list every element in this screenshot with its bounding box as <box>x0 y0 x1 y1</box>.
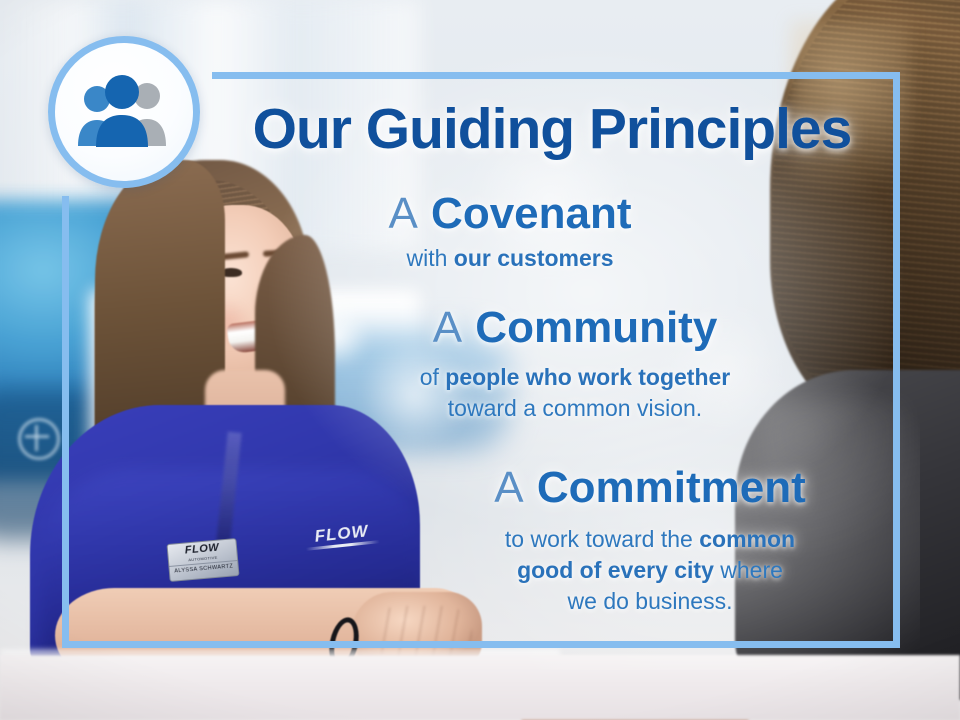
sub-text-plain: to work toward the <box>505 526 699 552</box>
sub-text-bold: common <box>699 526 795 552</box>
sub-text-bold: our customers <box>454 245 614 271</box>
sub-text-plain: with <box>406 245 453 271</box>
table-surface <box>0 655 960 720</box>
people-group-badge <box>48 36 200 188</box>
principle-keyword: Community <box>475 303 717 352</box>
people-group-icon <box>70 74 178 150</box>
sub-line-2: good of every city where <box>420 555 880 586</box>
principle-article: A <box>433 303 463 352</box>
sub-text-bold: people who work together <box>445 364 730 390</box>
principle-headline-commitment: A Commitment <box>420 462 880 514</box>
vehicle-emblem-icon <box>18 418 60 460</box>
sub-line-1: to work toward the common <box>420 524 880 555</box>
sub-text-bold: good of every city <box>517 557 714 583</box>
page-title: Our Guiding Principles <box>222 96 882 162</box>
sub-text-plain: of <box>420 364 446 390</box>
sub-line-1: of people who work together <box>340 362 810 393</box>
principle-keyword: Commitment <box>537 463 806 512</box>
banner-graphic: FLOW FLOW AUTOMOTIVE ALYSSA SCHWARTZ <box>0 0 960 720</box>
principle-article: A <box>388 189 418 238</box>
principle-sub-commitment: to work toward the common good of every … <box>420 524 880 617</box>
principle-block-community: A Community of people who work together … <box>340 302 810 424</box>
sub-line-3: we do business. <box>420 586 880 617</box>
employee-name-badge: FLOW AUTOMOTIVE ALYSSA SCHWARTZ <box>166 538 239 582</box>
principle-headline-covenant: A Covenant <box>300 188 720 240</box>
principle-article: A <box>494 463 524 512</box>
principle-block-covenant: A Covenant with our customers <box>300 188 720 274</box>
sub-line-2: toward a common vision. <box>340 393 810 424</box>
principle-sub-community: of people who work together toward a com… <box>340 362 810 424</box>
sub-text-plain: where <box>714 557 783 583</box>
principle-keyword: Covenant <box>431 189 631 238</box>
principle-headline-community: A Community <box>340 302 810 354</box>
principle-sub-covenant: with our customers <box>300 243 720 274</box>
principle-block-commitment: A Commitment to work toward the common g… <box>420 462 880 617</box>
